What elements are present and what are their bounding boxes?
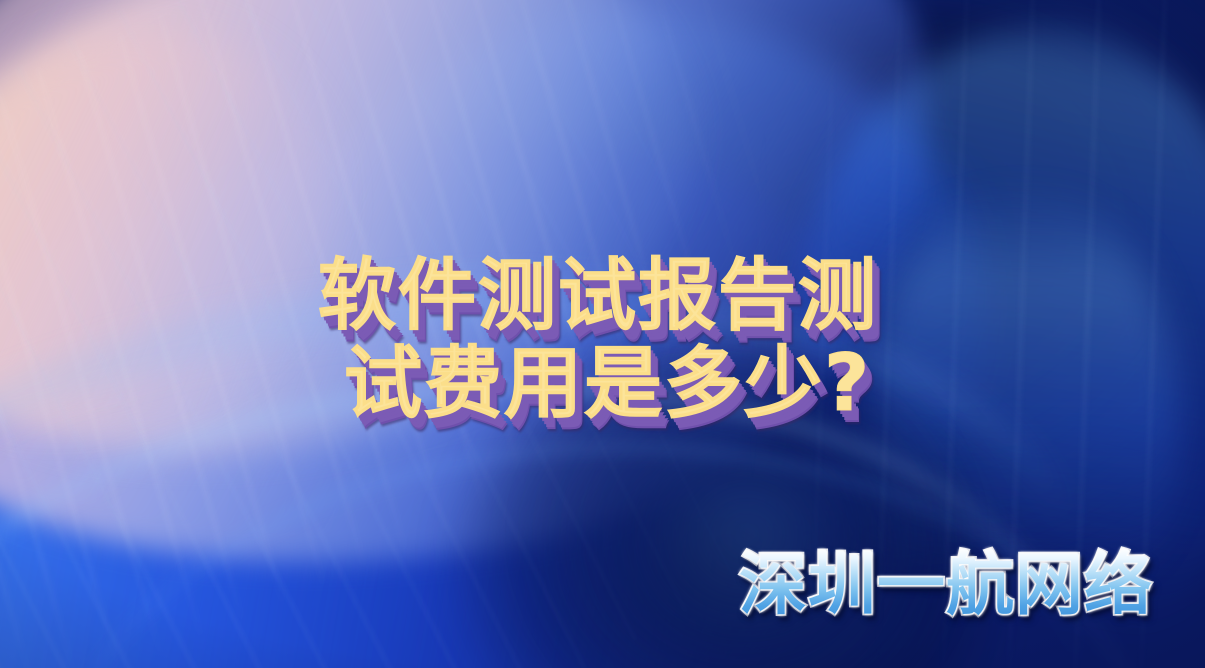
brand-watermark: 深圳一航网络 深圳一航网络	[739, 548, 1153, 624]
headline-block: 软件测试报告测 试费用是多少?	[0, 252, 1205, 428]
promo-banner: 软件测试报告测 试费用是多少? 深圳一航网络 深圳一航网络	[0, 0, 1205, 668]
headline-line-2: 试费用是多少?	[318, 340, 1205, 428]
brand-watermark-text: 深圳一航网络	[739, 548, 1153, 624]
headline-line-1: 软件测试报告测	[318, 252, 1205, 340]
